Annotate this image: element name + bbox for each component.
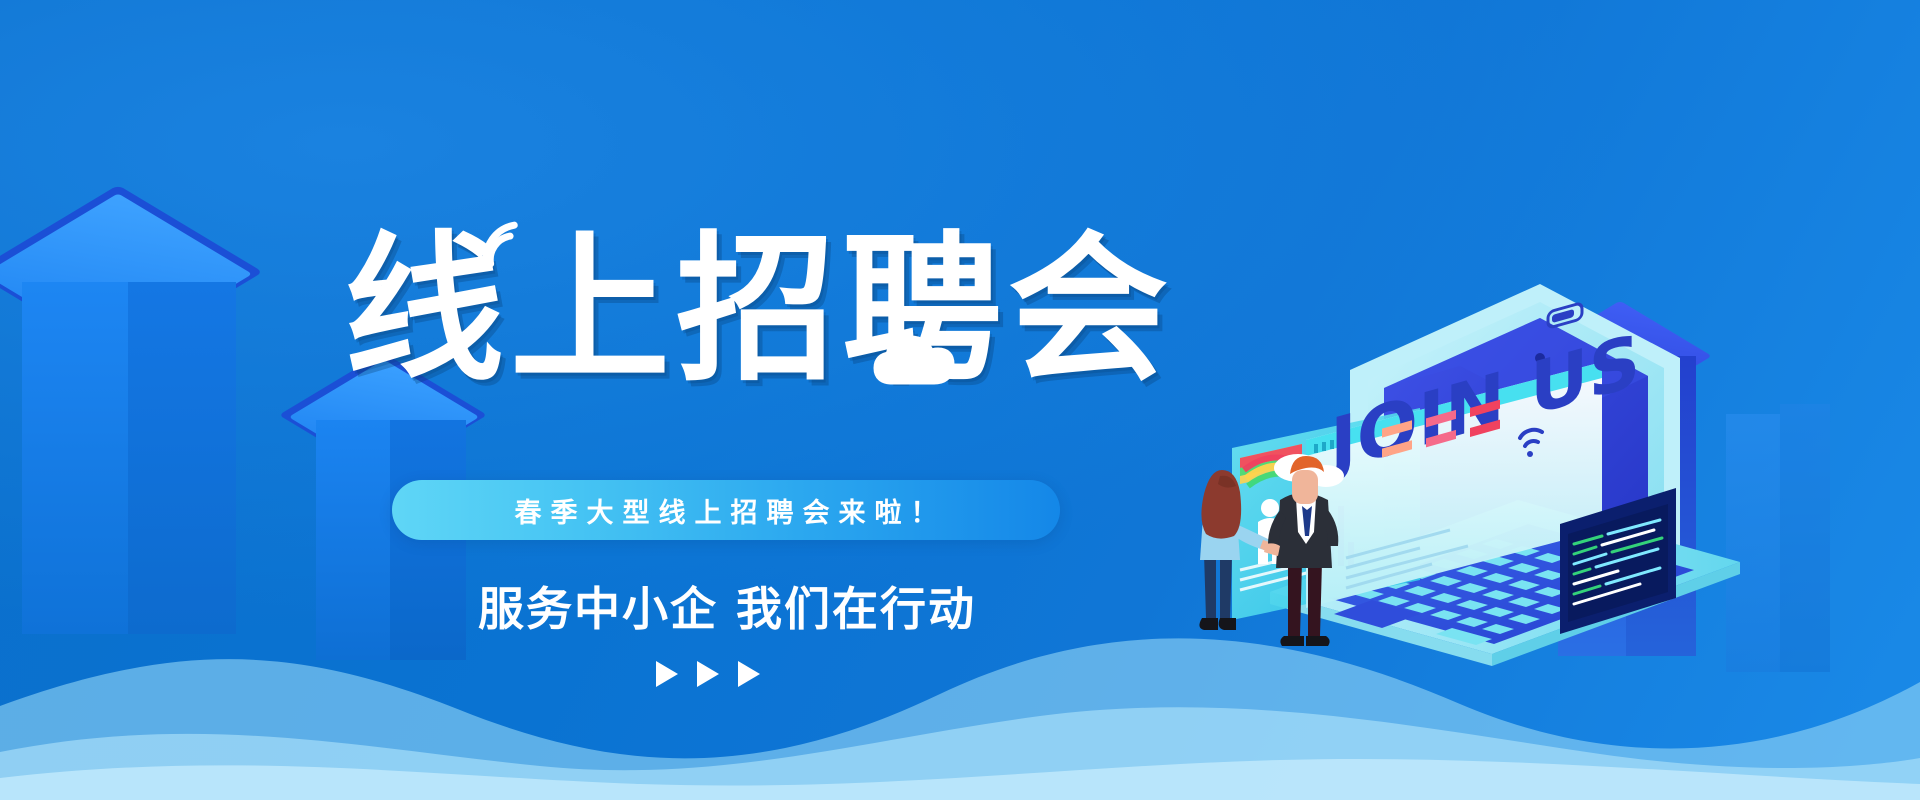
wave-decoration bbox=[0, 620, 1920, 800]
subtitle-pill: 春季大型线上招聘会来啦！ bbox=[392, 480, 1060, 540]
cloud-shape bbox=[862, 326, 982, 398]
decor-block-far-left bbox=[10, 196, 242, 636]
subtitle-pill-label: 春季大型线上招聘会来啦！ bbox=[506, 491, 947, 530]
wifi-icon bbox=[470, 208, 540, 274]
promo-banner: 线上招聘会 春季大型线上招聘会来啦！ 服务中小企 我们在行动 bbox=[0, 0, 1920, 800]
